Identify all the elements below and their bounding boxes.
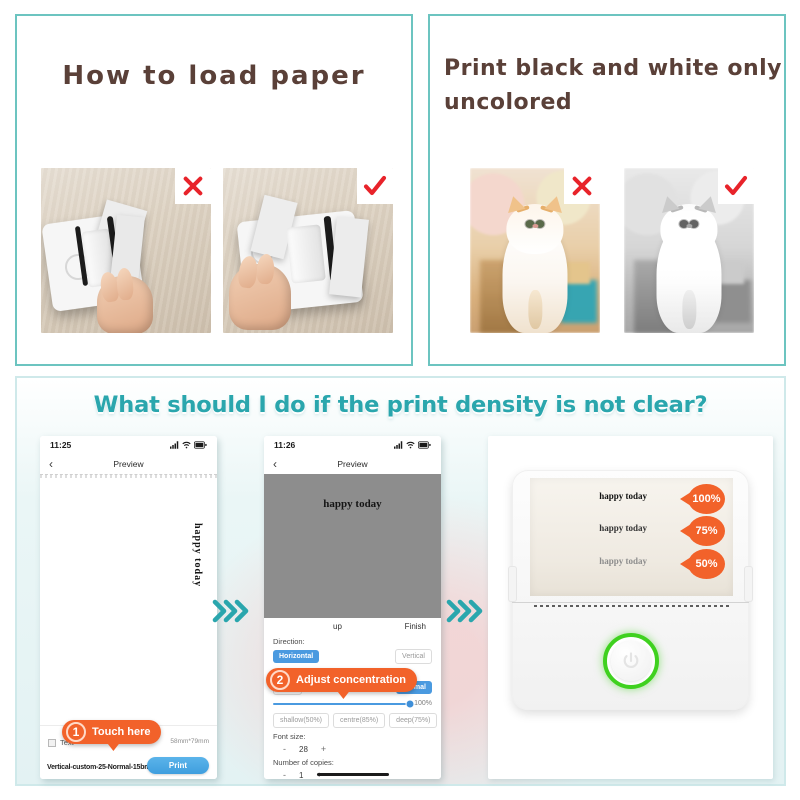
cat-nose bbox=[532, 224, 538, 228]
concentration-slider-row: 100% bbox=[273, 700, 432, 707]
cat-head bbox=[506, 204, 563, 254]
settings-panel: up Finish Direction: Horizontal Vertical… bbox=[264, 618, 441, 779]
concentration-value: 100% bbox=[414, 700, 432, 707]
power-button-inner[interactable] bbox=[611, 641, 651, 681]
nav-bar: ‹ Preview bbox=[264, 454, 441, 474]
paper-tear-edge bbox=[534, 605, 729, 607]
direction-label: Direction: bbox=[273, 637, 432, 646]
phone-settings-screen: 11:26 ‹ Preview happy today up Finish Di… bbox=[264, 436, 441, 779]
callout-touch-here: 1 Touch here bbox=[62, 720, 161, 744]
print-button[interactable]: Print bbox=[147, 757, 209, 774]
direction-option-vertical[interactable]: Vertical bbox=[395, 649, 432, 664]
preset-shallow[interactable]: shallow(50%) bbox=[273, 713, 329, 728]
copies-label: Number of copies: bbox=[273, 758, 432, 767]
power-button[interactable] bbox=[603, 633, 659, 689]
preview-canvas-gray[interactable]: happy today bbox=[264, 474, 441, 618]
cat-chest bbox=[528, 290, 542, 328]
nav-title: Preview bbox=[113, 459, 143, 469]
panel-bw-title-line2: uncolored bbox=[444, 90, 572, 115]
font-size-plus-button[interactable]: + bbox=[321, 744, 326, 754]
home-indicator bbox=[317, 773, 389, 776]
density-badge-50: 50% bbox=[688, 549, 725, 579]
side-tab-right bbox=[744, 566, 753, 602]
paper-dimensions-label: 58mm*79mm bbox=[170, 738, 209, 745]
callout-adjust-concentration: 2 Adjust concentration bbox=[266, 668, 417, 692]
status-icon-group bbox=[170, 441, 207, 449]
file-name-label: Vertical-custom-25-Normal-15bmp bbox=[47, 764, 154, 771]
callout-number: 2 bbox=[270, 670, 290, 690]
preview-canvas[interactable]: happy today bbox=[40, 474, 217, 725]
callout-number: 1 bbox=[66, 722, 86, 742]
cat-nose bbox=[686, 224, 692, 228]
settings-toolbar: up Finish bbox=[273, 622, 432, 631]
status-time: 11:25 bbox=[50, 440, 71, 450]
printed-line-50: happy today bbox=[599, 556, 647, 566]
callout-text: Adjust concentration bbox=[296, 674, 406, 686]
wifi-icon bbox=[182, 441, 191, 449]
mark-check-icon bbox=[357, 168, 393, 204]
device-seam bbox=[512, 602, 749, 603]
callout-text: Touch here bbox=[92, 726, 150, 738]
paper-roll bbox=[286, 224, 326, 283]
photo-printer-correct bbox=[223, 168, 393, 333]
printed-line-100: happy today bbox=[599, 491, 647, 501]
preset-deep[interactable]: deep(75%) bbox=[389, 713, 437, 728]
copies-minus-button[interactable]: - bbox=[283, 770, 286, 779]
checkbox-icon[interactable] bbox=[48, 739, 56, 747]
density-badge-75: 75% bbox=[688, 516, 725, 546]
status-icon-group bbox=[394, 441, 431, 449]
concentration-slider[interactable] bbox=[273, 703, 410, 705]
signal-icon bbox=[170, 441, 179, 449]
font-size-minus-button[interactable]: - bbox=[283, 744, 286, 754]
finish-button[interactable]: Finish bbox=[405, 622, 426, 631]
status-bar: 11:26 bbox=[264, 436, 441, 454]
panel-load-title: How to load paper bbox=[17, 61, 411, 91]
status-time: 11:26 bbox=[274, 440, 295, 450]
preview-text: happy today bbox=[264, 498, 441, 510]
battery-icon bbox=[418, 441, 431, 449]
up-button[interactable]: up bbox=[333, 622, 342, 631]
mark-cross-icon bbox=[175, 168, 211, 204]
photo-cat-grayscale bbox=[624, 168, 754, 333]
nav-bar: ‹ Preview bbox=[40, 454, 217, 474]
preset-centre[interactable]: centre(85%) bbox=[333, 713, 385, 728]
direction-option-horizontal[interactable]: Horizontal bbox=[273, 650, 319, 663]
nav-title: Preview bbox=[337, 459, 367, 469]
printed-paper: happy today 100% happy today 75% happy t… bbox=[530, 478, 733, 596]
mark-check-icon bbox=[718, 168, 754, 204]
panel-print-black-and-white: Print black and white only uncolored bbox=[428, 14, 786, 366]
power-icon bbox=[621, 651, 641, 671]
infographic-page: How to load paper bbox=[0, 0, 800, 800]
panel-bw-title: Print black and white only uncolored bbox=[444, 52, 784, 120]
battery-icon bbox=[194, 441, 207, 449]
load-paper-photo-row bbox=[41, 168, 393, 333]
panel-how-to-load-paper: How to load paper bbox=[15, 14, 413, 366]
preview-vertical-text: happy today bbox=[192, 523, 203, 587]
triple-chevron-right-icon bbox=[212, 598, 252, 624]
font-size-label: Font size: bbox=[273, 732, 432, 741]
printed-line-75: happy today bbox=[599, 523, 647, 533]
triple-chevron-right-icon bbox=[446, 598, 486, 624]
font-size-value: 28 bbox=[299, 745, 308, 754]
chevron-left-icon[interactable]: ‹ bbox=[273, 458, 277, 470]
photo-printer-wrong bbox=[41, 168, 211, 333]
thermal-printer-device: happy today 100% happy today 75% happy t… bbox=[512, 470, 749, 710]
black-white-photo-row bbox=[470, 168, 754, 333]
photo-printer-result: happy today 100% happy today 75% happy t… bbox=[488, 436, 773, 779]
signal-icon bbox=[394, 441, 403, 449]
photo-cat-color bbox=[470, 168, 600, 333]
panel-bw-title-line1: Print black and white only bbox=[444, 56, 782, 81]
wifi-icon bbox=[406, 441, 415, 449]
mark-cross-icon bbox=[564, 168, 600, 204]
arrow-step-1-to-2 bbox=[212, 598, 252, 624]
arrow-step-2-to-3 bbox=[446, 598, 486, 624]
status-bar: 11:25 bbox=[40, 436, 217, 454]
print-density-heading: What should I do if the print density is… bbox=[17, 392, 784, 418]
chevron-left-icon[interactable]: ‹ bbox=[49, 458, 53, 470]
cat-head bbox=[660, 204, 717, 254]
slider-knob[interactable] bbox=[407, 700, 414, 707]
side-tab-left bbox=[508, 566, 517, 602]
copies-value: 1 bbox=[299, 771, 303, 780]
concentration-presets: shallow(50%) centre(85%) deep(75%) custo… bbox=[273, 713, 432, 728]
density-badge-100: 100% bbox=[688, 484, 725, 514]
font-size-stepper: - 28 + bbox=[273, 744, 432, 754]
direction-options: Horizontal Vertical bbox=[273, 649, 432, 664]
cat-chest bbox=[682, 290, 696, 328]
